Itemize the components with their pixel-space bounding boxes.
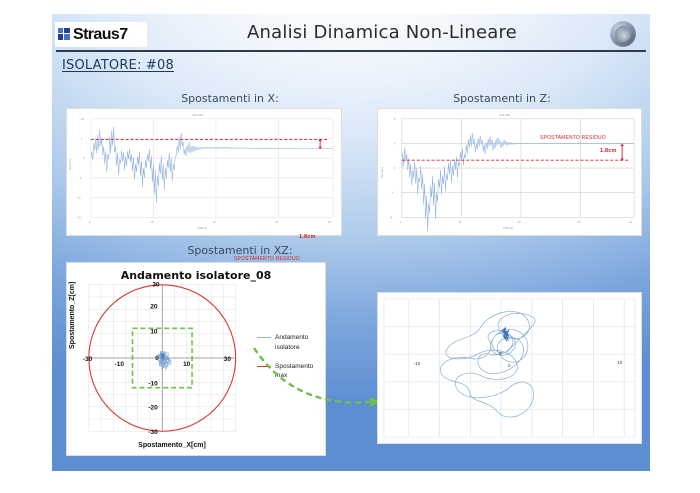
svg-text:10: 10 (150, 328, 158, 335)
svg-text:TIME [s]: TIME [s] (197, 226, 207, 230)
svg-text:0: 0 (394, 166, 396, 170)
svg-text:15: 15 (458, 220, 461, 224)
svg-text:TIME [s]: TIME [s] (503, 226, 513, 230)
svg-text:0: 0 (508, 363, 511, 368)
legend-line-icon-blue (257, 337, 271, 338)
chart-spostamenti-z: 840 -4-8 01530 4560 TIME [s] Disp [cm] I… (377, 108, 642, 236)
svg-text:10: 10 (81, 117, 84, 121)
svg-text:Disp [cm]: Disp [cm] (380, 167, 384, 178)
svg-text:10: 10 (183, 361, 191, 368)
chart-x-series (91, 127, 333, 204)
xz-legend-item-spostamento-max: Spostamento max (257, 362, 321, 382)
svg-text:30: 30 (224, 356, 232, 363)
slide-page: Straus7 Analisi Dinamica Non-Lineare ISO… (0, 0, 700, 493)
svg-text:-10: -10 (414, 361, 421, 366)
straus7-blocks-icon (58, 28, 71, 41)
svg-text:ISOL #08: ISOL #08 (192, 113, 203, 117)
page-title: Analisi Dinamica Non-Lineare (172, 22, 592, 43)
svg-text:4: 4 (394, 141, 396, 145)
svg-text:-20: -20 (148, 404, 158, 411)
svg-text:30: 30 (213, 220, 216, 224)
svg-text:60: 60 (328, 220, 331, 224)
isolator-heading: ISOLATORE: #08 (62, 58, 174, 73)
caption-spostamenti-z: Spostamenti in Z: (402, 92, 602, 105)
straus7-logo: Straus7 (55, 22, 147, 47)
chart-z-svg: 840 -4-8 01530 4560 TIME [s] Disp [cm] I… (378, 109, 641, 235)
svg-text:8: 8 (394, 117, 396, 121)
xz-y-axis-label: Spostamento_Z[cm] (69, 282, 76, 349)
svg-text:-5: -5 (79, 176, 82, 180)
chart-x-svg: 1050 -5-10-15 01530 4560 TIME [s] Disp [… (67, 109, 341, 235)
svg-text:-30: -30 (83, 356, 93, 363)
svg-text:20: 20 (150, 304, 158, 311)
chart-z-residual-value: 1.8cm (600, 148, 617, 154)
svg-text:0: 0 (89, 220, 91, 224)
svg-text:0: 0 (400, 220, 402, 224)
presentation-slide: Straus7 Analisi Dinamica Non-Lineare ISO… (52, 14, 650, 471)
svg-text:15: 15 (150, 220, 153, 224)
svg-text:-10: -10 (148, 381, 158, 388)
svg-text:-15: -15 (77, 215, 81, 219)
chart-z-grid (402, 119, 634, 217)
svg-text:30: 30 (152, 282, 160, 289)
chart-x-grid (91, 119, 333, 217)
xz-x-axis-label: Spostamento_X[cm] (107, 442, 237, 449)
svg-text:-10: -10 (77, 196, 81, 200)
chart-spostamenti-x: 1050 -5-10-15 01530 4560 TIME [s] Disp [… (66, 108, 342, 236)
caption-spostamenti-x: Spostamenti in X: (140, 92, 320, 105)
zoom-chart-svg: -10 0 10 0 (378, 293, 641, 443)
svg-text:ISOL #08: ISOL #08 (499, 113, 510, 117)
university-seal-icon (610, 21, 636, 47)
svg-text:-10: -10 (115, 361, 125, 368)
xz-legend-item-andamento: Andamento isolatore (257, 333, 321, 353)
xz-legend: Andamento isolatore Spostamento max (257, 333, 321, 390)
straus7-logo-text: Straus7 (73, 27, 128, 43)
xz-legend-label-spostamento-max: Spostamento max (275, 362, 321, 382)
chart-andamento-zoom: -10 0 10 0 (377, 292, 642, 444)
svg-text:0: 0 (83, 156, 85, 160)
svg-text:60: 60 (629, 220, 632, 224)
chart-x-dimension-arrow (318, 139, 321, 150)
svg-text:-4: -4 (391, 191, 394, 195)
xz-chart-title: Andamento isolatore_08 (67, 269, 325, 282)
chart-andamento-isolatore: Andamento isolatore_08 Spostamento_Z[cm]… (66, 262, 326, 456)
chart-z-dimension-arrow (620, 143, 623, 161)
zoom-trajectory (440, 311, 535, 417)
svg-text:Disp [cm]: Disp [cm] (68, 159, 72, 170)
svg-text:10: 10 (617, 360, 623, 365)
xz-legend-label-andamento: Andamento isolatore (275, 333, 321, 353)
chart-z-residual-label: SPOSTAMENTO RESIDUO (540, 135, 606, 141)
svg-text:5: 5 (81, 137, 83, 141)
svg-text:45: 45 (275, 220, 278, 224)
chart-x-ticklabels: 1050 -5-10-15 01530 4560 TIME [s] Disp [… (68, 113, 332, 230)
title-divider (56, 50, 646, 52)
chart-z-ticklabels: 840 -4-8 01530 4560 TIME [s] Disp [cm] I… (380, 113, 633, 230)
legend-line-icon-red (257, 366, 271, 367)
svg-text:0: 0 (155, 355, 159, 362)
svg-text:-30: -30 (148, 429, 158, 436)
svg-text:-8: -8 (390, 215, 393, 219)
xz-tick-labels: 30 20 10 0 -10 -20 -30 -30 -10 10 30 (83, 282, 231, 436)
svg-text:45: 45 (577, 220, 580, 224)
svg-text:30: 30 (518, 220, 521, 224)
chart-x-residual-value: 1.8cm (299, 234, 316, 240)
